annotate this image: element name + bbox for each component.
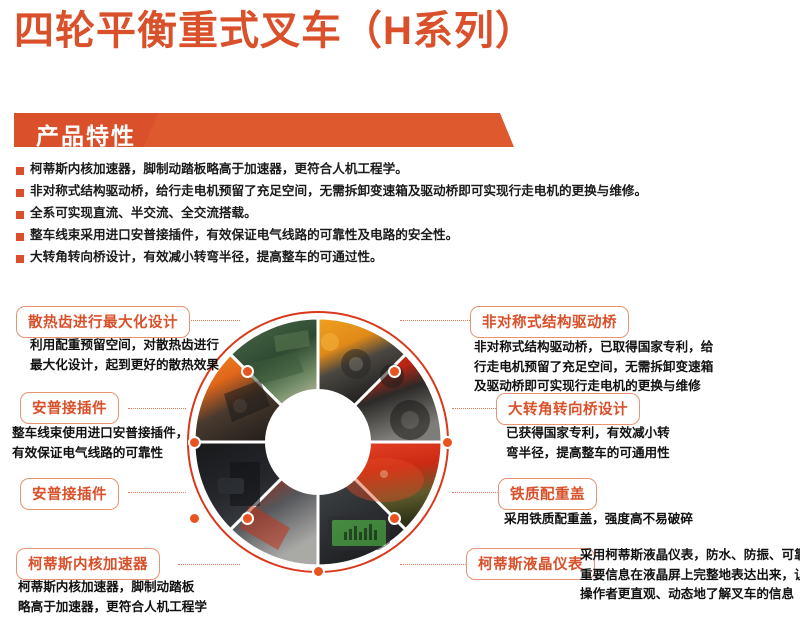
list-item: 非对称式结构驱动桥，给行走电机预留了充足空间，无需拆卸变速箱及驱动桥即可实现行走…	[16, 184, 786, 198]
callout-desc-radiator-fin: 利用配重预留空间，对散热齿进行 最大化设计，起到更好的散热效果	[30, 336, 219, 375]
ring-inner-hub	[266, 390, 370, 494]
callout-pill-curtis-accelerator[interactable]: 柯蒂斯内核加速器	[16, 548, 160, 580]
bullet-square-icon	[16, 255, 24, 263]
bullet-text: 非对称式结构驱动桥，给行走电机预留了充足空间，无需拆卸变速箱及驱动桥即可实现行走…	[30, 184, 647, 198]
callout-pill-radiator-fin[interactable]: 散热齿进行最大化设计	[16, 306, 190, 338]
section-banner: 产品特性	[14, 113, 514, 147]
bullet-text: 大转角转向桥设计，有效减小转弯半径，提高整车的可通过性。	[30, 250, 383, 264]
bullet-text: 柯蒂斯内核加速器，脚制动踏板略高于加速器，更符合人机工程学。	[30, 162, 408, 176]
list-item: 柯蒂斯内核加速器，脚制动踏板略高于加速器，更符合人机工程学。	[16, 162, 786, 176]
callout-desc-iron-counterweight: 采用铁质配重盖，强度高不易破碎	[504, 510, 693, 530]
ring-dot-left-lower	[188, 512, 201, 525]
bullet-square-icon	[16, 189, 24, 197]
callout-desc-curtis-accelerator: 柯蒂斯内核加速器，脚制动踏板 略高于加速器，更符合人机工程学	[18, 578, 207, 617]
callout-pill-steer-axle[interactable]: 大转角转向桥设计	[496, 393, 640, 425]
bullet-text: 整车线束采用进口安普接插件，有效保证电气线路的可靠性及电路的安全性。	[30, 228, 458, 242]
section-title: 产品特性	[36, 117, 136, 151]
callout-pill-iron-counterweight[interactable]: 铁质配重盖	[498, 478, 597, 510]
ring-dot-bottom-right	[312, 565, 325, 578]
ring-dot-left-upper	[188, 436, 201, 449]
page-title: 四轮平衡重式叉车（H系列）	[14, 8, 536, 54]
callout-desc-curtis-lcd: 采用柯蒂斯液晶仪表，防水、防振、可靠 重要信息在液晶屏上完整地表达出来，让 操作…	[580, 546, 800, 605]
bullet-square-icon	[16, 167, 24, 175]
product-photo-ring	[178, 302, 458, 582]
callout-desc-asymmetric-axle: 非对称式结构驱动桥，已取得国家专利，给 行走电机预留了充足空间，无需拆卸变速箱 …	[474, 338, 713, 397]
bullet-square-icon	[16, 211, 24, 219]
callout-desc-amp-connector-1: 整车线束使用进口安普接插件， 有效保证电气线路的可靠性	[12, 424, 188, 463]
list-item: 全系可实现直流、半交流、全交流搭载。	[16, 206, 786, 220]
list-item: 整车线束采用进口安普接插件，有效保证电气线路的可靠性及电路的安全性。	[16, 228, 786, 242]
list-item: 大转角转向桥设计，有效减小转弯半径，提高整车的可通过性。	[16, 250, 786, 264]
product-feature-page: 四轮平衡重式叉车（H系列） 产品特性 柯蒂斯内核加速器，脚制动踏板略高于加速器，…	[0, 0, 800, 618]
callout-pill-curtis-lcd[interactable]: 柯蒂斯液晶仪表	[466, 548, 595, 580]
feature-bullet-list: 柯蒂斯内核加速器，脚制动踏板略高于加速器，更符合人机工程学。 非对称式结构驱动桥…	[16, 162, 786, 272]
ring-collage-svg	[178, 302, 458, 582]
bullet-text: 全系可实现直流、半交流、全交流搭载。	[30, 206, 257, 220]
ring-dot-right-upper	[441, 436, 454, 449]
ring-dot-right-lower	[388, 512, 401, 525]
callout-pill-amp-connector-1[interactable]: 安普接插件	[20, 392, 119, 424]
callout-desc-steer-axle: 已获得国家专利，有效减小转 弯半径，提高整车的可通用性	[506, 424, 670, 463]
callout-pill-amp-connector-2[interactable]: 安普接插件	[20, 478, 119, 510]
bullet-square-icon	[16, 233, 24, 241]
ring-dot-top-right	[388, 365, 401, 378]
callout-pill-asymmetric-axle[interactable]: 非对称式结构驱动桥	[470, 306, 629, 338]
ring-dot-bottom-left	[241, 512, 254, 525]
